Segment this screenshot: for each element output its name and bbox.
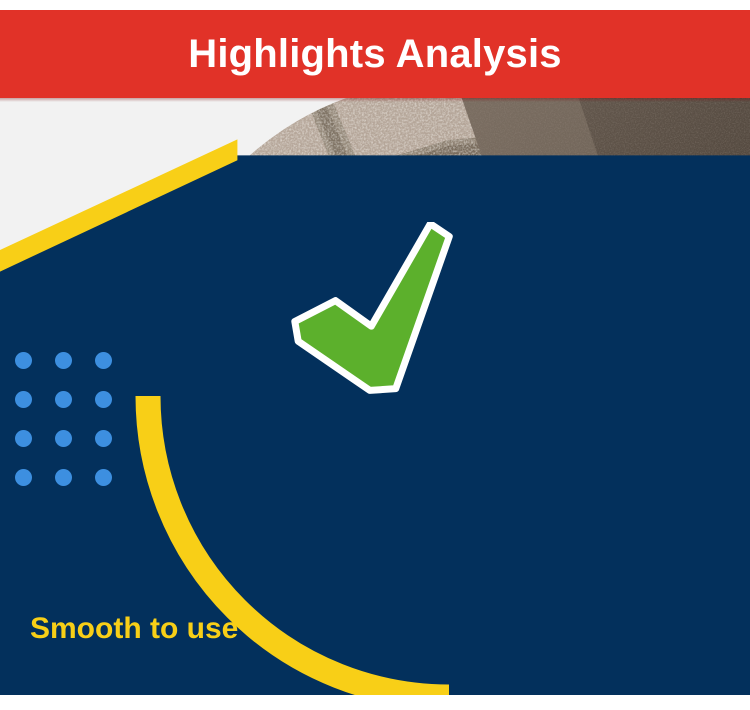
- header-shadow: [0, 98, 750, 102]
- grid-dot: [55, 352, 72, 369]
- grid-dot: [15, 391, 32, 408]
- caption-text: Smooth to use: [30, 612, 238, 646]
- grid-dot: [55, 391, 72, 408]
- dot-grid-icon: [15, 352, 135, 508]
- bottom-white-margin: [0, 695, 750, 710]
- grid-dot: [95, 391, 112, 408]
- poster-canvas: Smooth to use Highlights Analysis: [0, 0, 750, 710]
- page-title: Highlights Analysis: [188, 34, 562, 74]
- grid-dot: [95, 352, 112, 369]
- grid-dot: [15, 469, 32, 486]
- grid-dot: [15, 430, 32, 447]
- grid-dot: [95, 469, 112, 486]
- grid-dot: [15, 352, 32, 369]
- grid-dot: [55, 430, 72, 447]
- grid-dot: [95, 430, 112, 447]
- grid-dot: [55, 469, 72, 486]
- green-check-icon: [288, 222, 463, 397]
- header-banner: Highlights Analysis: [0, 10, 750, 98]
- top-white-margin: [0, 0, 750, 10]
